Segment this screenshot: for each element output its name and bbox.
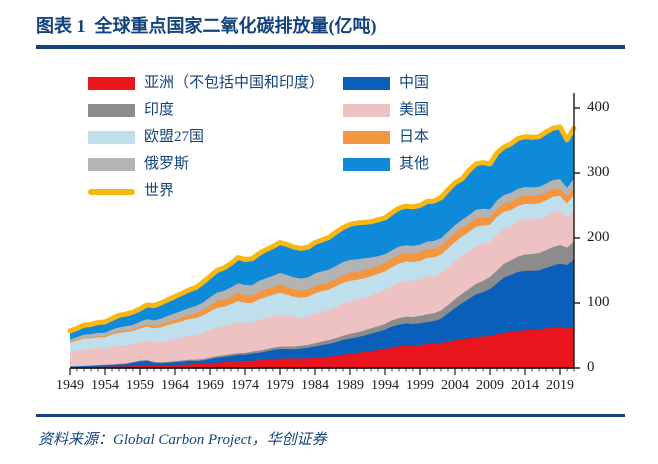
legend-column-right: 中国 美国 日本 其他 <box>343 70 429 178</box>
legend-item-eu27[interactable]: 欧盟27国 <box>88 124 324 151</box>
legend-item-china[interactable]: 中国 <box>343 70 429 97</box>
y-tick-label: 400 <box>587 99 610 116</box>
x-tick-label: 1954 <box>91 378 119 394</box>
x-tick-label: 1959 <box>126 378 154 394</box>
legend-label-world: 世界 <box>144 184 174 199</box>
legend-swatch-russia <box>88 158 135 171</box>
legend-item-usa[interactable]: 美国 <box>343 97 429 124</box>
x-tick-label: 1969 <box>196 378 224 394</box>
legend-label-india: 印度 <box>144 103 174 118</box>
figure-header: 图表 1 全球重点国家二氧化碳排放量(亿吨) <box>36 10 636 40</box>
y-tick-label: 100 <box>587 294 610 311</box>
x-tick-label: 1964 <box>161 378 189 394</box>
legend-item-asia-excl-china-india[interactable]: 亚洲（不包括中国和印度） <box>88 70 324 97</box>
y-tick-label: 200 <box>587 229 610 246</box>
x-tick-label: 1974 <box>231 378 259 394</box>
legend-swatch-china <box>343 77 390 90</box>
x-tick-label: 2009 <box>476 378 504 394</box>
page-title: 全球重点国家二氧化碳排放量(亿吨) <box>95 12 377 38</box>
header-divider <box>36 45 625 49</box>
x-tick-label: 2014 <box>511 378 539 394</box>
legend-column-left: 亚洲（不包括中国和印度） 印度 欧盟27国 俄罗斯 世界 <box>88 70 324 205</box>
x-tick-label: 2019 <box>546 378 574 394</box>
chart-legend: 亚洲（不包括中国和印度） 印度 欧盟27国 俄罗斯 世界 <box>88 70 548 210</box>
source-text: 资料来源：Global Carbon Project，华创证券 <box>38 428 327 449</box>
legend-item-other[interactable]: 其他 <box>343 151 429 178</box>
y-tick-label: 300 <box>587 164 610 181</box>
legend-label-eu27: 欧盟27国 <box>144 130 204 145</box>
legend-swatch-world <box>88 189 135 195</box>
footer-divider <box>36 414 625 417</box>
y-tick-label: 0 <box>587 359 595 376</box>
legend-label-asia: 亚洲（不包括中国和印度） <box>144 76 324 91</box>
x-tick-label: 2004 <box>441 378 469 394</box>
legend-swatch-india <box>88 104 135 117</box>
legend-swatch-usa <box>343 104 390 117</box>
x-tick-label: 1989 <box>336 378 364 394</box>
legend-swatch-asia <box>88 77 135 90</box>
chart-area: 亚洲（不包括中国和印度） 印度 欧盟27国 俄罗斯 世界 <box>0 52 658 407</box>
x-tick-label: 1999 <box>406 378 434 394</box>
x-tick-label: 1994 <box>371 378 399 394</box>
x-tick-label: 1979 <box>266 378 294 394</box>
x-tick-label: 1984 <box>301 378 329 394</box>
source-note: 资料来源：Global Carbon Project，华创证券 <box>38 425 638 451</box>
x-tick-label: 1949 <box>56 378 84 394</box>
legend-item-russia[interactable]: 俄罗斯 <box>88 151 324 178</box>
legend-item-world[interactable]: 世界 <box>88 178 324 205</box>
legend-label-japan: 日本 <box>399 130 429 145</box>
legend-swatch-japan <box>343 131 390 144</box>
legend-item-india[interactable]: 印度 <box>88 97 324 124</box>
legend-label-other: 其他 <box>399 157 429 172</box>
legend-item-japan[interactable]: 日本 <box>343 124 429 151</box>
legend-swatch-eu27 <box>88 131 135 144</box>
figure-container: 图表 1 全球重点国家二氧化碳排放量(亿吨) 亚洲（不包括中国和印度） 印度 <box>0 0 658 464</box>
legend-label-usa: 美国 <box>399 103 429 118</box>
legend-swatch-other <box>343 158 390 171</box>
legend-label-china: 中国 <box>399 76 429 91</box>
legend-label-russia: 俄罗斯 <box>144 157 189 172</box>
figure-number: 图表 1 <box>36 12 86 38</box>
